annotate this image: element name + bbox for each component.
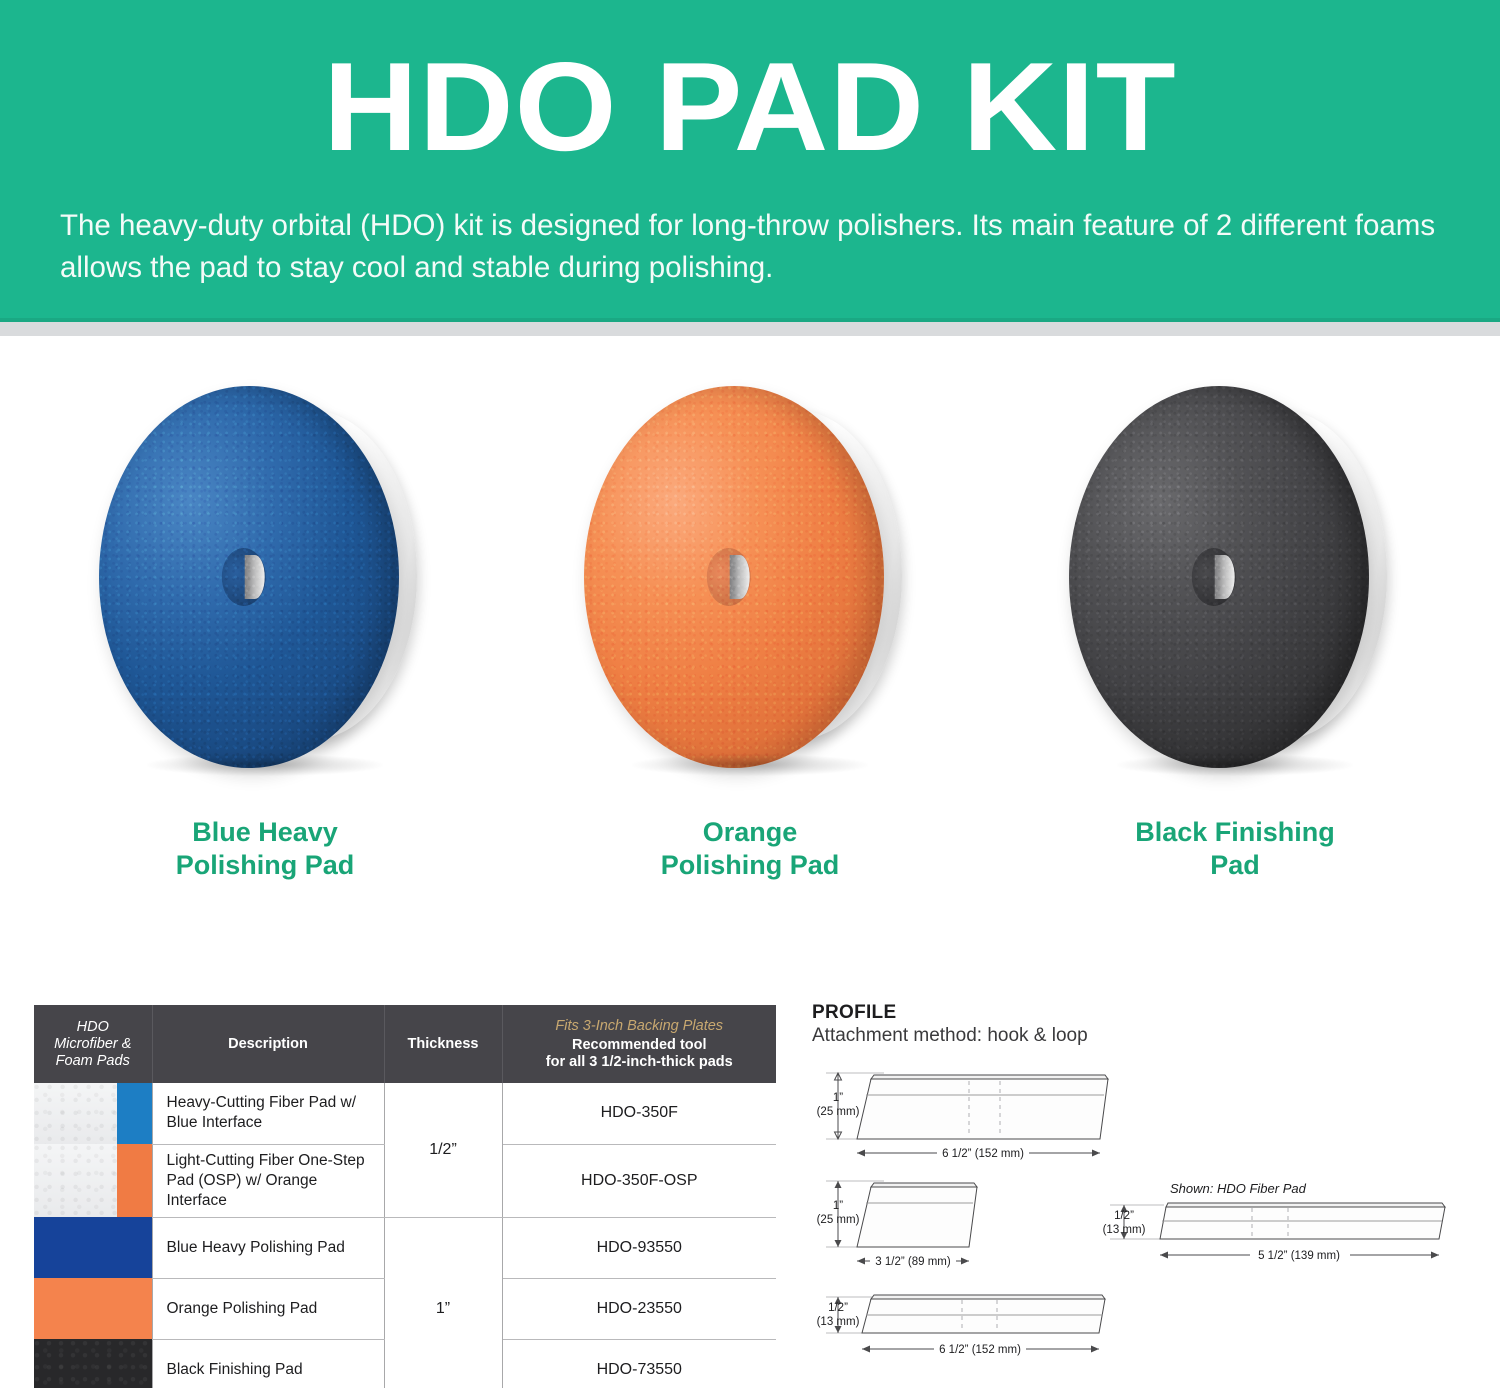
column-header-recommended-tool: Fits 3-Inch Backing Plates Recommended t… bbox=[502, 1005, 776, 1083]
profile-section: PROFILE Attachment method: hook & loop 1… bbox=[812, 1002, 1492, 1365]
table-row: Heavy-Cutting Fiber Pad w/ Blue Interfac… bbox=[34, 1083, 776, 1144]
desc-line-2: Pad (OSP) w/ Orange Interface bbox=[167, 1172, 318, 1209]
orange-pad-image bbox=[580, 372, 920, 782]
dim-height-line-2: (13 mm) bbox=[817, 1316, 860, 1328]
desc-line-1: Black Finishing Pad bbox=[167, 1361, 303, 1378]
diagram-note: Shown: HDO Fiber Pad bbox=[1170, 1181, 1307, 1196]
hole-interior bbox=[222, 548, 266, 606]
swatch-image bbox=[34, 1144, 152, 1217]
column-header-thickness: Thickness bbox=[384, 1005, 502, 1083]
header-row: HDO Microfiber & Foam Pads Description T… bbox=[34, 1005, 776, 1083]
infographic-page: HDO PAD KIT The heavy-duty orbital (HDO)… bbox=[0, 0, 1500, 1388]
spec-table-wrapper: HDO Microfiber & Foam Pads Description T… bbox=[34, 1005, 776, 1388]
pad-label-black: Black Finishing Pad bbox=[992, 816, 1478, 882]
dim-width-label: 5 1/2” (139 mm) bbox=[1258, 1250, 1340, 1262]
pad-card-black: Black Finishing Pad bbox=[992, 360, 1478, 930]
pad-card-blue: Blue Heavy Polishing Pad bbox=[22, 360, 508, 930]
pad-label-line-1: Orange bbox=[703, 817, 798, 847]
description-cell: Light-Cutting Fiber One-Step Pad (OSP) w… bbox=[152, 1144, 384, 1217]
hole-backing-highlight bbox=[730, 555, 750, 599]
swatch-header-line-3: Foam Pads bbox=[56, 1053, 130, 1069]
pad-label-line-1: Blue Heavy bbox=[192, 817, 338, 847]
profile-diagram-2: 1” (25 mm) 3 1/2” (89 mm) bbox=[812, 1173, 1112, 1279]
hole-backing-highlight bbox=[1215, 555, 1235, 599]
dim-height-line-2: (25 mm) bbox=[817, 1214, 860, 1226]
hole-interior bbox=[1192, 548, 1236, 606]
foam-disc-orange bbox=[584, 386, 884, 768]
thickness-cell-half-inch: 1/2” bbox=[384, 1083, 502, 1217]
spec-table-body: Heavy-Cutting Fiber Pad w/ Blue Interfac… bbox=[34, 1083, 776, 1388]
pad-label-line-2: Pad bbox=[1210, 850, 1260, 880]
center-hole bbox=[222, 548, 266, 606]
column-header-description: Description bbox=[152, 1005, 384, 1083]
drop-shadow bbox=[1117, 754, 1353, 776]
swatch-header-line-1: HDO bbox=[77, 1019, 109, 1035]
table-row: Blue Heavy Polishing Pad 1” HDO-93550 bbox=[34, 1217, 776, 1278]
black-pad-image bbox=[1065, 372, 1405, 782]
description-cell: Heavy-Cutting Fiber Pad w/ Blue Interfac… bbox=[152, 1083, 384, 1144]
dim-width-label: 6 1/2” (152 mm) bbox=[939, 1344, 1021, 1356]
tool-cell: HDO-350F-OSP bbox=[502, 1144, 776, 1217]
dim-height-line-1: 1” bbox=[833, 1092, 843, 1104]
foam-disc-blue bbox=[99, 386, 399, 768]
swatch-image bbox=[34, 1339, 152, 1388]
swatch-image bbox=[34, 1217, 152, 1278]
blue-pad-image bbox=[95, 372, 435, 782]
profile-heading: PROFILE bbox=[812, 1002, 1492, 1024]
drop-shadow bbox=[632, 754, 868, 776]
profile-diagrams: 1” (25 mm) 6 1/2” (152 mm) bbox=[812, 1065, 1492, 1365]
foam-disc-black bbox=[1069, 386, 1369, 768]
interface-strip-orange bbox=[117, 1144, 151, 1217]
pad-label-line-1: Black Finishing bbox=[1135, 817, 1335, 847]
header-banner: HDO PAD KIT The heavy-duty orbital (HDO)… bbox=[0, 0, 1500, 322]
solid-color-orange bbox=[34, 1278, 152, 1339]
swatch-cell-fiber-orange bbox=[34, 1144, 152, 1217]
swatch-cell-solid-blue bbox=[34, 1217, 152, 1278]
pad-card-orange: Orange Polishing Pad bbox=[507, 360, 993, 930]
column-header-swatch: HDO Microfiber & Foam Pads bbox=[34, 1005, 152, 1083]
spec-table-head: HDO Microfiber & Foam Pads Description T… bbox=[34, 1005, 776, 1083]
swatch-cell-solid-orange bbox=[34, 1278, 152, 1339]
tool-cell: HDO-350F bbox=[502, 1083, 776, 1144]
dim-width-label: 6 1/2” (152 mm) bbox=[942, 1148, 1024, 1160]
hole-backing-highlight bbox=[245, 555, 265, 599]
swatch-header-line-2: Microfiber & bbox=[54, 1036, 131, 1052]
pad-label-blue: Blue Heavy Polishing Pad bbox=[22, 816, 508, 882]
swatch-image bbox=[34, 1083, 152, 1144]
tool-cell: HDO-93550 bbox=[502, 1217, 776, 1278]
desc-line-2: Blue Interface bbox=[167, 1114, 263, 1131]
gray-divider-strip bbox=[0, 322, 1500, 336]
tool-header-line-1: Recommended tool bbox=[572, 1037, 707, 1053]
swatch-image bbox=[34, 1278, 152, 1339]
dim-height-line-2: (25 mm) bbox=[817, 1106, 860, 1118]
pad-showcase: Blue Heavy Polishing Pad Orange Polishin… bbox=[0, 360, 1500, 930]
hole-interior bbox=[707, 548, 751, 606]
dim-width-label: 3 1/2” (89 mm) bbox=[875, 1256, 951, 1268]
banner-subtitle: The heavy-duty orbital (HDO) kit is desi… bbox=[60, 205, 1450, 289]
description-cell: Orange Polishing Pad bbox=[152, 1278, 384, 1339]
description-cell: Blue Heavy Polishing Pad bbox=[152, 1217, 384, 1278]
interface-strip-blue bbox=[117, 1083, 151, 1144]
swatch-cell-fiber-blue bbox=[34, 1083, 152, 1144]
microfiber-area bbox=[34, 1144, 117, 1217]
center-hole bbox=[707, 548, 751, 606]
profile-diagram-3: Shown: HDO Fiber Pad 1/2” (13 mm) 5 1/2”… bbox=[1102, 1177, 1492, 1279]
tool-header-tagline: Fits 3-Inch Backing Plates bbox=[509, 1018, 771, 1035]
dim-height-line-2: (13 mm) bbox=[1103, 1224, 1146, 1236]
dim-height-line-1: 1/2” bbox=[1114, 1210, 1134, 1222]
desc-line-1: Heavy-Cutting Fiber Pad w/ bbox=[167, 1094, 357, 1111]
pad-label-line-2: Polishing Pad bbox=[661, 850, 840, 880]
thickness-cell-one-inch: 1” bbox=[384, 1217, 502, 1388]
pad-label-line-2: Polishing Pad bbox=[176, 850, 355, 880]
profile-attachment-method: Attachment method: hook & loop bbox=[812, 1025, 1492, 1047]
profile-diagram-1: 1” (25 mm) 6 1/2” (152 mm) bbox=[812, 1065, 1282, 1171]
desc-line-1: Orange Polishing Pad bbox=[167, 1300, 318, 1317]
drop-shadow bbox=[147, 754, 383, 776]
description-cell: Black Finishing Pad bbox=[152, 1339, 384, 1388]
profile-diagram-4: 1/2” (13 mm) 6 1/2” (152 mm) bbox=[812, 1283, 1282, 1379]
swatch-cell-solid-black bbox=[34, 1339, 152, 1388]
solid-color-blue bbox=[34, 1217, 152, 1278]
spec-table: HDO Microfiber & Foam Pads Description T… bbox=[34, 1005, 776, 1388]
tool-cell: HDO-73550 bbox=[502, 1339, 776, 1388]
page-title: HDO PAD KIT bbox=[0, 44, 1500, 170]
dim-height-line-1: 1” bbox=[833, 1200, 843, 1212]
tool-cell: HDO-23550 bbox=[502, 1278, 776, 1339]
tool-header-line-2: for all 3 1/2-inch-thick pads bbox=[546, 1054, 733, 1070]
dim-height-line-1: 1/2” bbox=[828, 1302, 848, 1314]
microfiber-area bbox=[34, 1083, 117, 1144]
pad-label-orange: Orange Polishing Pad bbox=[507, 816, 993, 882]
center-hole bbox=[1192, 548, 1236, 606]
solid-color-black bbox=[34, 1339, 152, 1388]
desc-line-1: Light-Cutting Fiber One-Step bbox=[167, 1152, 365, 1169]
desc-line-1: Blue Heavy Polishing Pad bbox=[167, 1239, 345, 1256]
